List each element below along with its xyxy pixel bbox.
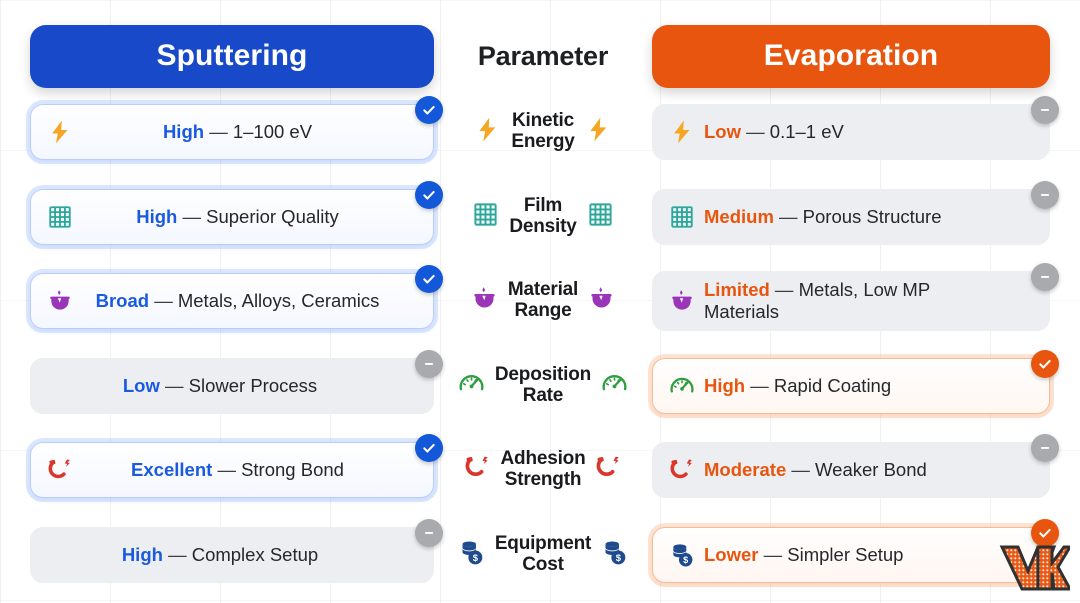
value-detail: Simpler Setup [787, 544, 903, 565]
left-value-text: High — Complex Setup [47, 544, 393, 566]
left-value-pill[interactable]: High — 1–100 eV [30, 104, 434, 160]
right-value-pill[interactable]: Limited — Metals, Low MP Materials [652, 271, 1050, 331]
sputtering-title: Sputtering [157, 39, 308, 73]
table-cell-parameter: Deposition Rate [434, 365, 652, 407]
grid-mesh-icon [472, 201, 499, 233]
left-value-pill[interactable]: Low — Slower Process [30, 358, 434, 414]
value-dash: — [746, 121, 765, 142]
left-value-pill[interactable]: Broad — Metals, Alloys, Ceramics [30, 273, 434, 329]
grid-mesh-icon [587, 201, 614, 233]
right-value-text: Moderate — Weaker Bond [704, 459, 1009, 481]
table-cell-left: Broad — Metals, Alloys, Ceramics [30, 273, 434, 329]
right-value-text: Medium — Porous Structure [704, 206, 1009, 228]
value-detail: Weaker Bond [815, 459, 927, 480]
value-highlight: High [704, 375, 745, 396]
value-highlight: High [163, 121, 204, 142]
value-dash: — [182, 206, 201, 227]
crucible-pot-icon [669, 288, 695, 314]
lightning-bolt-icon [47, 119, 73, 145]
right-value-pill[interactable]: High — Rapid Coating [652, 358, 1050, 414]
left-value-text: High — Superior Quality [82, 206, 393, 228]
coins-dollar-icon: $ [669, 542, 695, 568]
parameter-title: Parameter [478, 41, 608, 72]
table-row: High — Complex Setup$Equipment Cost$$Low… [30, 513, 1050, 598]
value-detail: 0.1–1 eV [770, 121, 844, 142]
value-highlight: Low [123, 375, 160, 396]
value-dash: — [217, 459, 236, 480]
parameter-label: Film Density [509, 196, 576, 238]
value-highlight: Limited [704, 279, 770, 300]
left-value-text: Broad — Metals, Alloys, Ceramics [82, 290, 393, 312]
lightning-bolt-icon [474, 116, 501, 148]
table-row: High — Superior QualityFilm DensityMediu… [30, 175, 1050, 260]
value-dash: — [775, 279, 794, 300]
gauge-speedometer-icon [601, 370, 628, 402]
lightning-bolt-icon [585, 116, 612, 148]
gauge-speedometer-icon [669, 373, 695, 399]
table-cell-right: Limited — Metals, Low MP Materials [652, 271, 1050, 331]
svg-text:$: $ [473, 553, 479, 564]
value-highlight: Broad [96, 290, 149, 311]
table-header: Sputtering Parameter Evaporation [30, 22, 1050, 90]
minus-badge-icon [1031, 263, 1059, 291]
right-value-text: Lower — Simpler Setup [704, 544, 1009, 566]
minus-badge-icon [1031, 181, 1059, 209]
parameter-label: Equipment Cost [495, 534, 591, 576]
magnet-icon [47, 457, 73, 483]
value-detail: Complex Setup [192, 544, 318, 565]
table-cell-parameter: $Equipment Cost$ [434, 534, 652, 576]
magnet-icon [595, 454, 622, 486]
value-dash: — [209, 121, 228, 142]
table-row: Broad — Metals, Alloys, CeramicsMaterial… [30, 259, 1050, 344]
right-value-pill[interactable]: Medium — Porous Structure [652, 189, 1050, 245]
table-row: High — 1–100 eVKinetic EnergyLow — 0.1–1… [30, 90, 1050, 175]
magnet-icon [464, 454, 491, 486]
crucible-pot-icon [47, 288, 73, 314]
table-cell-right: $Lower — Simpler Setup [652, 527, 1050, 583]
header-cell-evaporation: Evaporation [652, 25, 1050, 88]
table-row: Low — Slower ProcessDeposition RateHigh … [30, 344, 1050, 429]
gauge-speedometer-icon [458, 370, 485, 402]
right-value-text: Low — 0.1–1 eV [704, 121, 1009, 143]
svg-text:$: $ [616, 553, 622, 564]
right-value-pill[interactable]: Low — 0.1–1 eV [652, 104, 1050, 160]
check-badge-icon [1031, 350, 1059, 378]
table-cell-right: Low — 0.1–1 eV [652, 104, 1050, 160]
evaporation-title-pill: Evaporation [652, 25, 1050, 88]
table-cell-left: High — 1–100 eV [30, 104, 434, 160]
grid-mesh-icon [669, 204, 695, 230]
table-cell-parameter: Kinetic Energy [434, 111, 652, 153]
table-body: High — 1–100 eVKinetic EnergyLow — 0.1–1… [30, 90, 1050, 597]
value-dash: — [764, 544, 783, 565]
parameter-label: Deposition Rate [495, 365, 591, 407]
coins-dollar-icon: $ [458, 539, 485, 571]
value-highlight: High [122, 544, 163, 565]
value-highlight: Low [704, 121, 741, 142]
table-cell-parameter: Film Density [434, 196, 652, 238]
value-dash: — [779, 206, 798, 227]
parameter-label: Adhesion Strength [501, 449, 586, 491]
value-detail: Superior Quality [206, 206, 339, 227]
value-highlight: Excellent [131, 459, 212, 480]
evaporation-title: Evaporation [764, 39, 938, 73]
lightning-bolt-icon [669, 119, 695, 145]
value-detail: Rapid Coating [774, 375, 891, 396]
value-detail: 1–100 eV [233, 121, 312, 142]
value-detail: Porous Structure [803, 206, 942, 227]
grid-mesh-icon [47, 204, 73, 230]
table-cell-left: Excellent — Strong Bond [30, 442, 434, 498]
crucible-pot-icon [471, 285, 498, 317]
right-value-text: High — Rapid Coating [704, 375, 1009, 397]
table-cell-right: Medium — Porous Structure [652, 189, 1050, 245]
table-cell-parameter: Adhesion Strength [434, 449, 652, 491]
parameter-label: Material Range [508, 280, 578, 322]
right-value-pill[interactable]: $Lower — Simpler Setup [652, 527, 1050, 583]
right-value-pill[interactable]: Moderate — Weaker Bond [652, 442, 1050, 498]
minus-badge-icon [1031, 434, 1059, 462]
magnet-icon [669, 457, 695, 483]
left-value-pill[interactable]: Excellent — Strong Bond [30, 442, 434, 498]
header-cell-parameter: Parameter [434, 41, 652, 72]
comparison-table: Sputtering Parameter Evaporation High — … [0, 0, 1080, 603]
header-cell-sputtering: Sputtering [30, 25, 434, 88]
table-cell-left: High — Superior Quality [30, 189, 434, 245]
svg-text:$: $ [683, 555, 688, 565]
kk-watermark-logo [998, 537, 1070, 599]
value-highlight: Lower [704, 544, 758, 565]
coins-dollar-icon: $ [601, 539, 628, 571]
left-value-text: High — 1–100 eV [82, 121, 393, 143]
table-row: Excellent — Strong BondAdhesion Strength… [30, 428, 1050, 513]
value-dash: — [791, 459, 810, 480]
minus-badge-icon [1031, 96, 1059, 124]
value-detail: Slower Process [189, 375, 318, 396]
sputtering-title-pill: Sputtering [30, 25, 434, 88]
table-cell-left: High — Complex Setup [30, 527, 434, 583]
value-highlight: Moderate [704, 459, 786, 480]
value-dash: — [168, 544, 187, 565]
value-dash: — [750, 375, 769, 396]
value-dash: — [165, 375, 184, 396]
crucible-pot-icon [588, 285, 615, 317]
table-cell-right: Moderate — Weaker Bond [652, 442, 1050, 498]
parameter-label: Kinetic Energy [511, 111, 574, 153]
value-detail: Strong Bond [241, 459, 344, 480]
left-value-pill[interactable]: High — Complex Setup [30, 527, 434, 583]
left-value-text: Excellent — Strong Bond [82, 459, 393, 481]
value-highlight: Medium [704, 206, 774, 227]
value-dash: — [154, 290, 173, 311]
right-value-text: Limited — Metals, Low MP Materials [704, 279, 1009, 323]
table-cell-parameter: Material Range [434, 280, 652, 322]
value-highlight: High [136, 206, 177, 227]
table-cell-right: High — Rapid Coating [652, 358, 1050, 414]
value-detail: Metals, Alloys, Ceramics [178, 290, 380, 311]
table-cell-left: Low — Slower Process [30, 358, 434, 414]
left-value-pill[interactable]: High — Superior Quality [30, 189, 434, 245]
left-value-text: Low — Slower Process [47, 375, 393, 397]
